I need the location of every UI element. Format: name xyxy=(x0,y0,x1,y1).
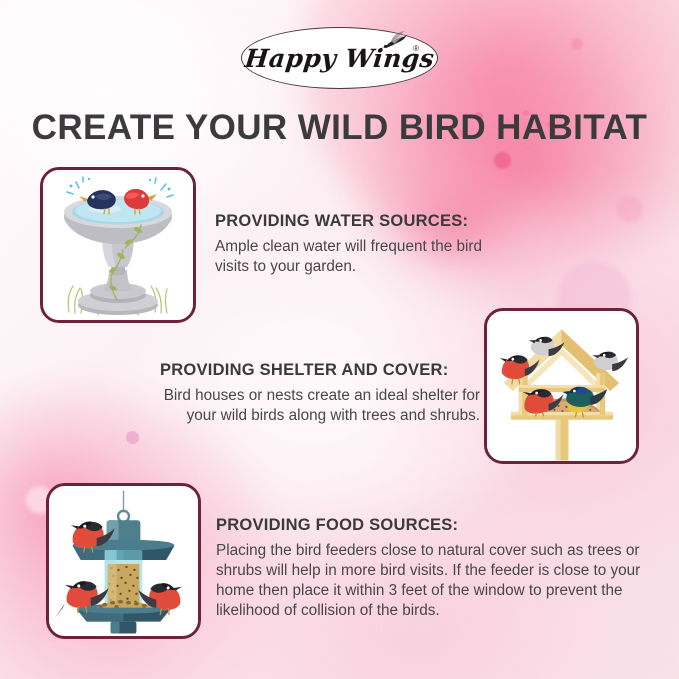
section-shelter-heading: PROVIDING SHELTER AND COVER: xyxy=(160,361,480,380)
section-water-heading: PROVIDING WATER SOURCES: xyxy=(215,212,515,231)
section-shelter-body: Bird houses or nests create an ideal she… xyxy=(160,386,480,426)
section-food-heading: PROVIDING FOOD SOURCES: xyxy=(216,516,652,535)
section-shelter: PROVIDING SHELTER AND COVER: Bird houses… xyxy=(160,361,480,426)
bird-house-table-feeder-illustration xyxy=(484,308,639,464)
section-food-body: Placing the bird feeders close to natura… xyxy=(216,541,652,621)
registered-trademark-icon: ® xyxy=(413,44,419,53)
section-water-body: Ample clean water will frequent the bird… xyxy=(215,237,515,277)
infographic-poster: Happy Wings ® CREATE YOUR WILD BIRD HABI… xyxy=(0,0,679,679)
section-food: PROVIDING FOOD SOURCES: Placing the bird… xyxy=(216,516,652,621)
section-water: PROVIDING WATER SOURCES: Ample clean wat… xyxy=(215,212,515,277)
brand-logo: Happy Wings ® xyxy=(0,27,679,89)
page-title: CREATE YOUR WILD BIRD HABITAT xyxy=(0,108,679,148)
hummingbird-icon xyxy=(379,30,409,52)
logo-oval-frame: Happy Wings ® xyxy=(241,27,438,89)
hanging-tube-feeder-illustration xyxy=(46,483,201,639)
bird-bath-illustration xyxy=(40,167,196,323)
